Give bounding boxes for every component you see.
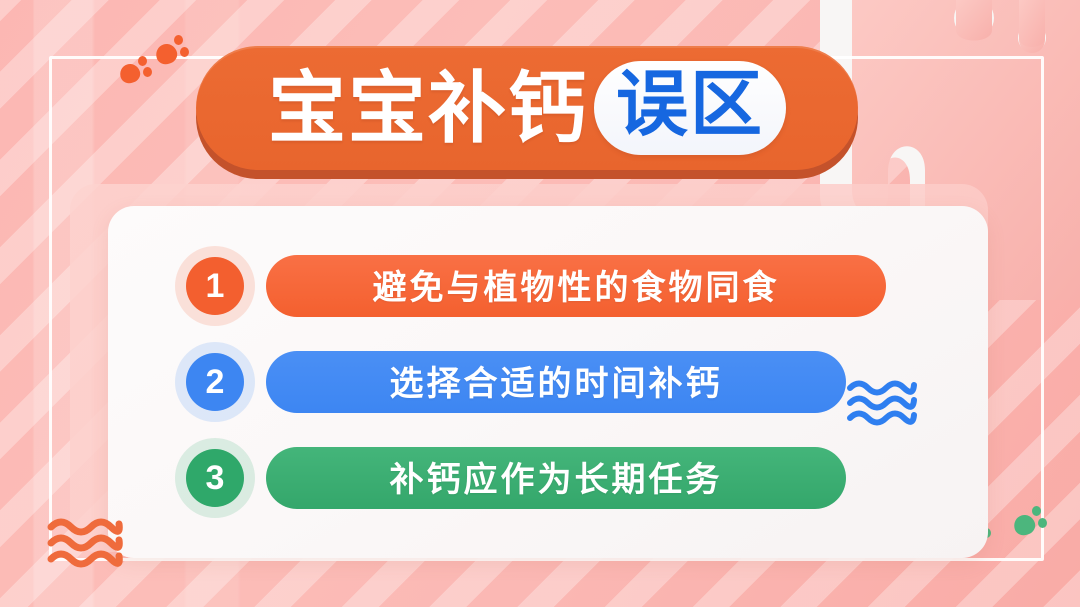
title-banner: 宝宝补钙 误区	[196, 46, 858, 170]
wave-decoration-orange-icon	[46, 516, 124, 570]
list-item[interactable]: 3 补钙应作为长期任务	[108, 439, 988, 517]
paw-print-icon	[1010, 502, 1056, 540]
page-title-main: 宝宝补钙	[268, 69, 588, 147]
item-number-badge: 1	[186, 257, 244, 315]
item-label: 避免与植物性的食物同食	[266, 255, 886, 317]
wave-decoration-blue-icon	[846, 378, 918, 428]
paw-print-icon	[152, 32, 198, 70]
item-label: 补钙应作为长期任务	[266, 447, 846, 509]
page-title-accent: 误区	[616, 67, 764, 145]
item-label: 选择合适的时间补钙	[266, 351, 846, 413]
title-accent-pill: 误区	[594, 61, 786, 155]
poster-root: 宝宝补钙 误区 1 避免与植物性的食物同食 2 选择合适的时间补钙 3 补钙应作…	[0, 0, 1080, 607]
item-number-badge: 3	[186, 449, 244, 507]
list-item[interactable]: 1 避免与植物性的食物同食	[108, 247, 988, 325]
item-number-badge: 2	[186, 353, 244, 411]
